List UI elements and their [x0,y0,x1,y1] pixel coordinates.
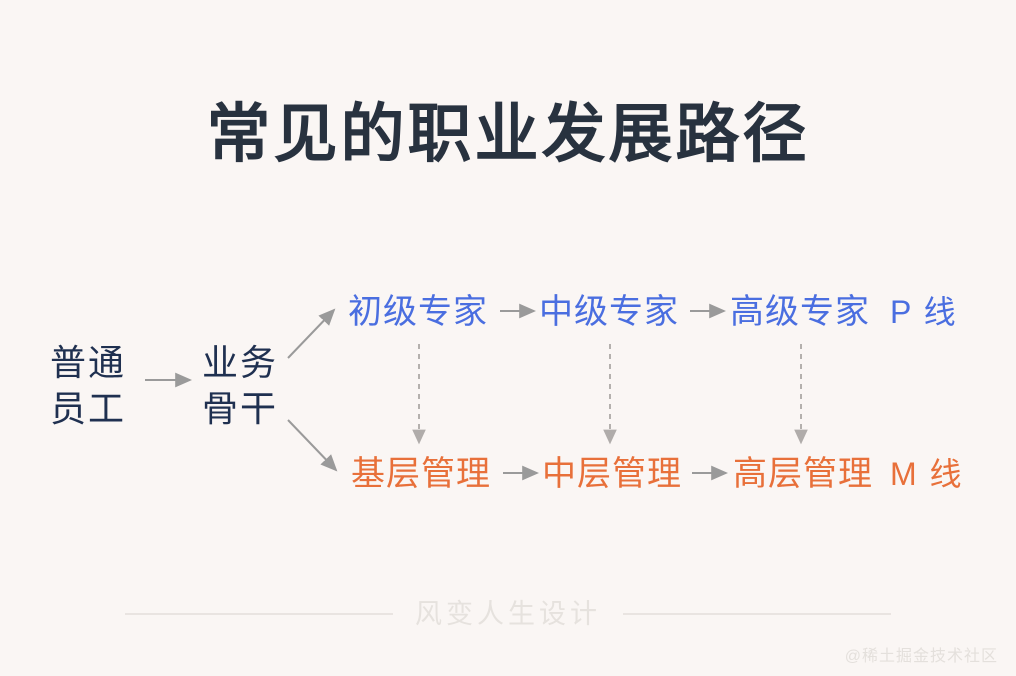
node-m-senior-management: 高层管理 [733,452,873,496]
track-label-m-line: M 线 [890,452,964,496]
footer-rule-right [623,613,891,615]
node-business-backbone-line1: 业务 [202,340,278,386]
node-p-senior-expert: 高级专家 [730,290,870,334]
node-p-junior-expert: 初级专家 [348,290,488,334]
node-m-frontline-management: 基层管理 [351,452,491,496]
node-p-mid-expert: 中级专家 [539,290,679,334]
node-ordinary-employee: 普通 员工 [50,340,126,432]
footer-rule-left [125,613,393,615]
node-business-backbone: 业务 骨干 [202,340,278,432]
node-business-backbone-line2: 骨干 [202,386,278,432]
page-title: 常见的职业发展路径 [0,92,1016,176]
attribution-text: @稀土掘金技术社区 [845,646,998,668]
node-m-middle-management: 中层管理 [542,452,682,496]
node-ordinary-employee-line1: 普通 [50,340,126,386]
footer-watermark-text: 风变人生设计 [415,596,601,632]
slide-canvas: 常见的职业发展路径 [0,0,1016,676]
arrow-backbone-to-p-track [288,310,334,358]
track-label-p-line: P 线 [890,290,958,334]
node-ordinary-employee-line2: 员工 [50,386,126,432]
arrow-backbone-to-m-track [288,420,336,470]
footer-watermark: 风变人生设计 [0,596,1016,632]
